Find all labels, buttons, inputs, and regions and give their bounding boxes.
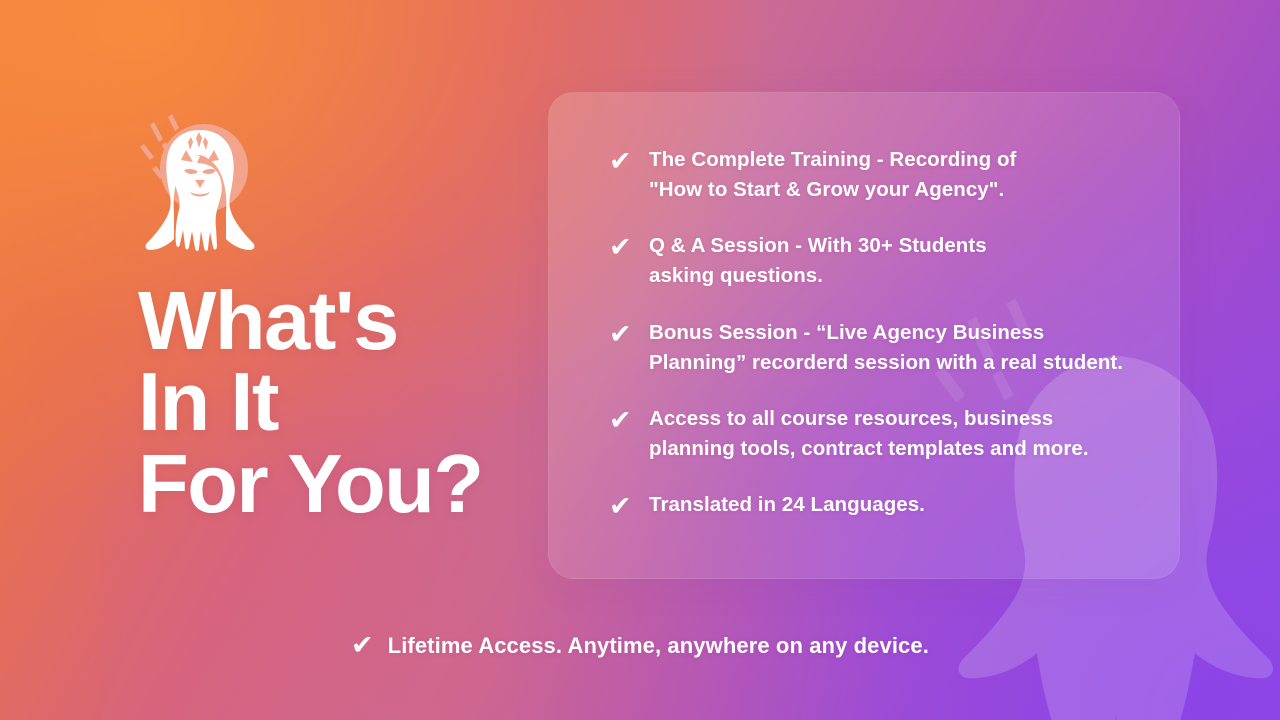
list-item-line-2: asking questions.: [649, 261, 987, 291]
list-item-text: Translated in 24 Languages.: [649, 490, 925, 520]
list-item-line-1: The Complete Training - Recording of: [649, 145, 1016, 175]
list-item-line-1: Q & A Session - With 30+ Students: [649, 231, 987, 261]
check-mark-icon: ✔: [351, 632, 374, 659]
list-item: ✔ The Complete Training - Recording of "…: [609, 145, 1145, 205]
list-item: ✔ Access to all course resources, busine…: [609, 404, 1145, 464]
footer-text: Lifetime Access. Anytime, anywhere on an…: [388, 633, 929, 659]
list-item-line-2: Planning” recorderd session with a real …: [649, 348, 1123, 378]
check-mark-icon: ✔: [609, 232, 649, 264]
list-item: ✔ Q & A Session - With 30+ Students aski…: [609, 231, 1145, 291]
list-item: ✔ Bonus Session - “Live Agency Business …: [609, 318, 1145, 378]
list-item-text: Q & A Session - With 30+ Students asking…: [649, 231, 987, 291]
list-item-line-1: Translated in 24 Languages.: [649, 490, 925, 520]
check-mark-icon: ✔: [609, 146, 649, 178]
list-item-text: The Complete Training - Recording of "Ho…: [649, 145, 1016, 205]
benefits-card: ✔ The Complete Training - Recording of "…: [548, 92, 1180, 579]
check-mark-icon: ✔: [609, 319, 649, 351]
list-item: ✔ Translated in 24 Languages.: [609, 490, 1145, 523]
page-title: What's In It For You?: [138, 280, 518, 524]
benefits-list: ✔ The Complete Training - Recording of "…: [609, 145, 1145, 523]
footer-note: ✔ Lifetime Access. Anytime, anywhere on …: [0, 632, 1280, 659]
list-item-text: Access to all course resources, business…: [649, 404, 1089, 464]
headline-line-2: In It: [138, 361, 518, 442]
list-item-line-2: "How to Start & Grow your Agency".: [649, 175, 1016, 205]
check-mark-icon: ✔: [609, 491, 649, 523]
headline-line-3: For You?: [138, 443, 518, 524]
list-item-text: Bonus Session - “Live Agency Business Pl…: [649, 318, 1123, 378]
bearded-figure-logo-icon: [138, 112, 262, 252]
headline-line-1: What's: [138, 280, 518, 361]
check-mark-icon: ✔: [609, 405, 649, 437]
slide-canvas: What's In It For You? ✔ The Complete Tra…: [0, 0, 1280, 720]
list-item-line-1: Bonus Session - “Live Agency Business: [649, 318, 1123, 348]
left-column: What's In It For You?: [138, 112, 518, 524]
list-item-line-1: Access to all course resources, business: [649, 404, 1089, 434]
list-item-line-2: planning tools, contract templates and m…: [649, 434, 1089, 464]
